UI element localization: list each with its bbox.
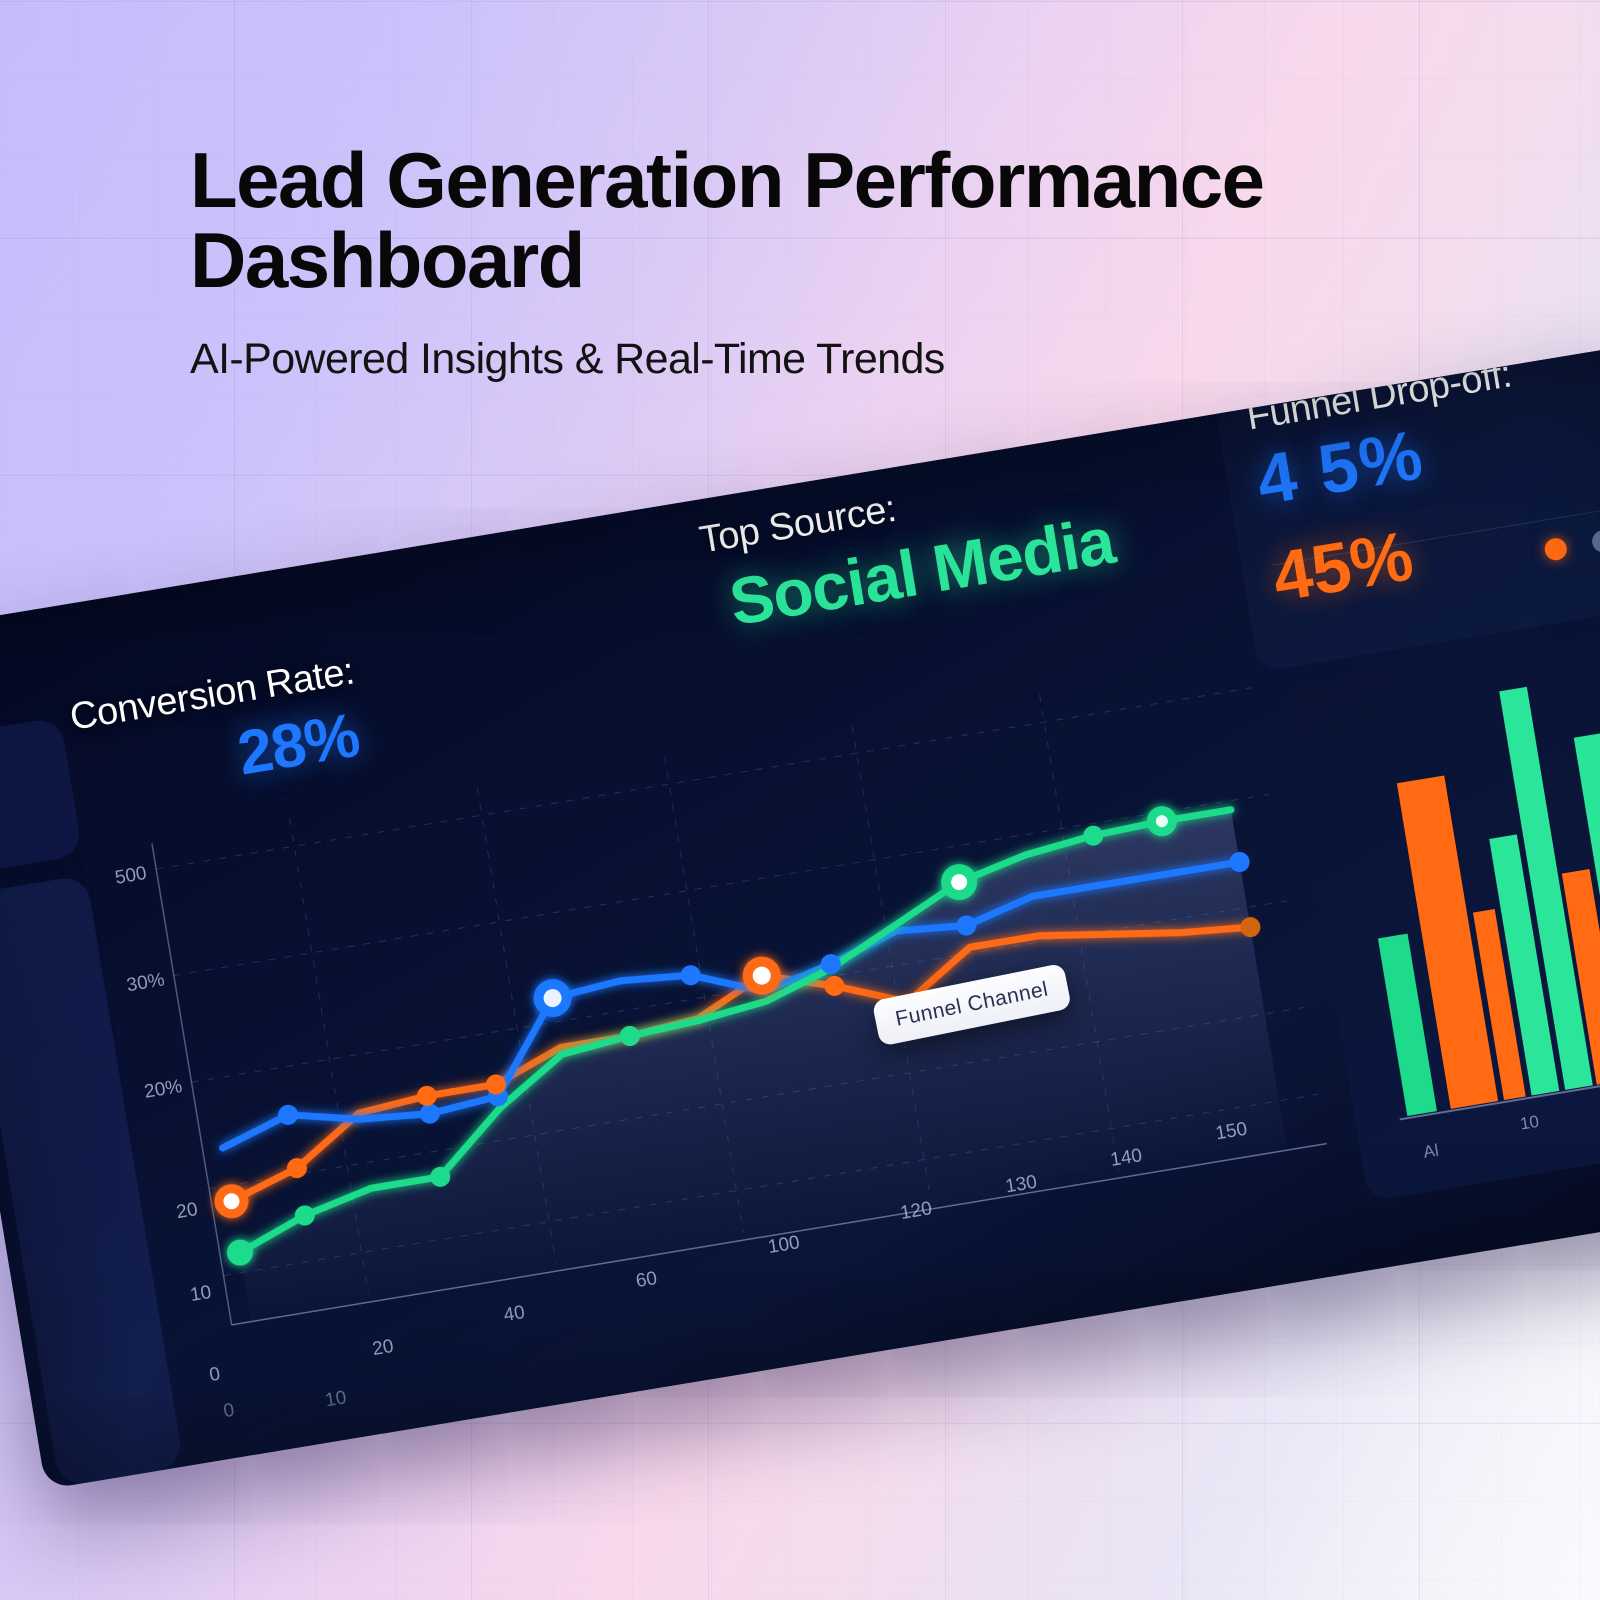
x-tick-label: 120 (899, 1198, 934, 1224)
y-tick-label: 500 (113, 863, 148, 889)
x-tick-label: 40 (502, 1302, 526, 1326)
x-axis-ticks-lower: 0 10 (222, 1381, 348, 1428)
bar-x-tick-label: 10 (1519, 1112, 1541, 1134)
sidebar-card-top (0, 717, 83, 876)
page-title: Lead Generation Performance Dashboard (190, 140, 1510, 301)
legend-dot-grey-icon (1590, 529, 1600, 554)
x-tick-label: 60 (634, 1268, 658, 1292)
page-title-line2: Dashboard (190, 216, 584, 304)
y-tick-label: 0 (208, 1364, 222, 1386)
x-tick-label: 130 (1004, 1172, 1039, 1198)
kpi-top-source: Top Source: Social Media (696, 454, 1119, 644)
x-tick-label: 0 (222, 1400, 236, 1422)
page-header: Lead Generation Performance Dashboard AI… (190, 140, 1510, 384)
y-tick-label: 30% (125, 969, 166, 996)
legend-dot-orange-icon (1543, 537, 1568, 562)
y-tick-label: 20 (175, 1199, 199, 1223)
kpi-conversion-rate: Conversion Rate: 28% (67, 650, 370, 815)
page-subtitle: AI-Powered Insights & Real-Time Trends (190, 335, 1510, 384)
dashboard-surface: Conversion Rate: 28% Top Source: Social … (0, 344, 1600, 1490)
dashboard-panel: Conversion Rate: 28% Top Source: Social … (0, 344, 1600, 1490)
page-title-line1: Lead Generation Performance (190, 136, 1264, 224)
area-fill (195, 810, 1287, 1322)
bar-chart-svg: Al 10 20 (1284, 623, 1600, 1201)
bars (1341, 665, 1600, 1116)
x-tick-label: 10 (324, 1387, 348, 1411)
bar-chart[interactable]: Al 10 20 (1284, 623, 1600, 1201)
y-tick-label: 10 (189, 1282, 213, 1306)
y-tick-label: 20% (143, 1076, 184, 1103)
x-tick-label: 100 (767, 1232, 802, 1258)
bar-x-tick-label: Al (1422, 1141, 1440, 1162)
kpi-funnel-dropoff: Funnel Drop-off: 4 5% 45% (1210, 344, 1600, 673)
x-tick-label: 20 (371, 1336, 395, 1360)
